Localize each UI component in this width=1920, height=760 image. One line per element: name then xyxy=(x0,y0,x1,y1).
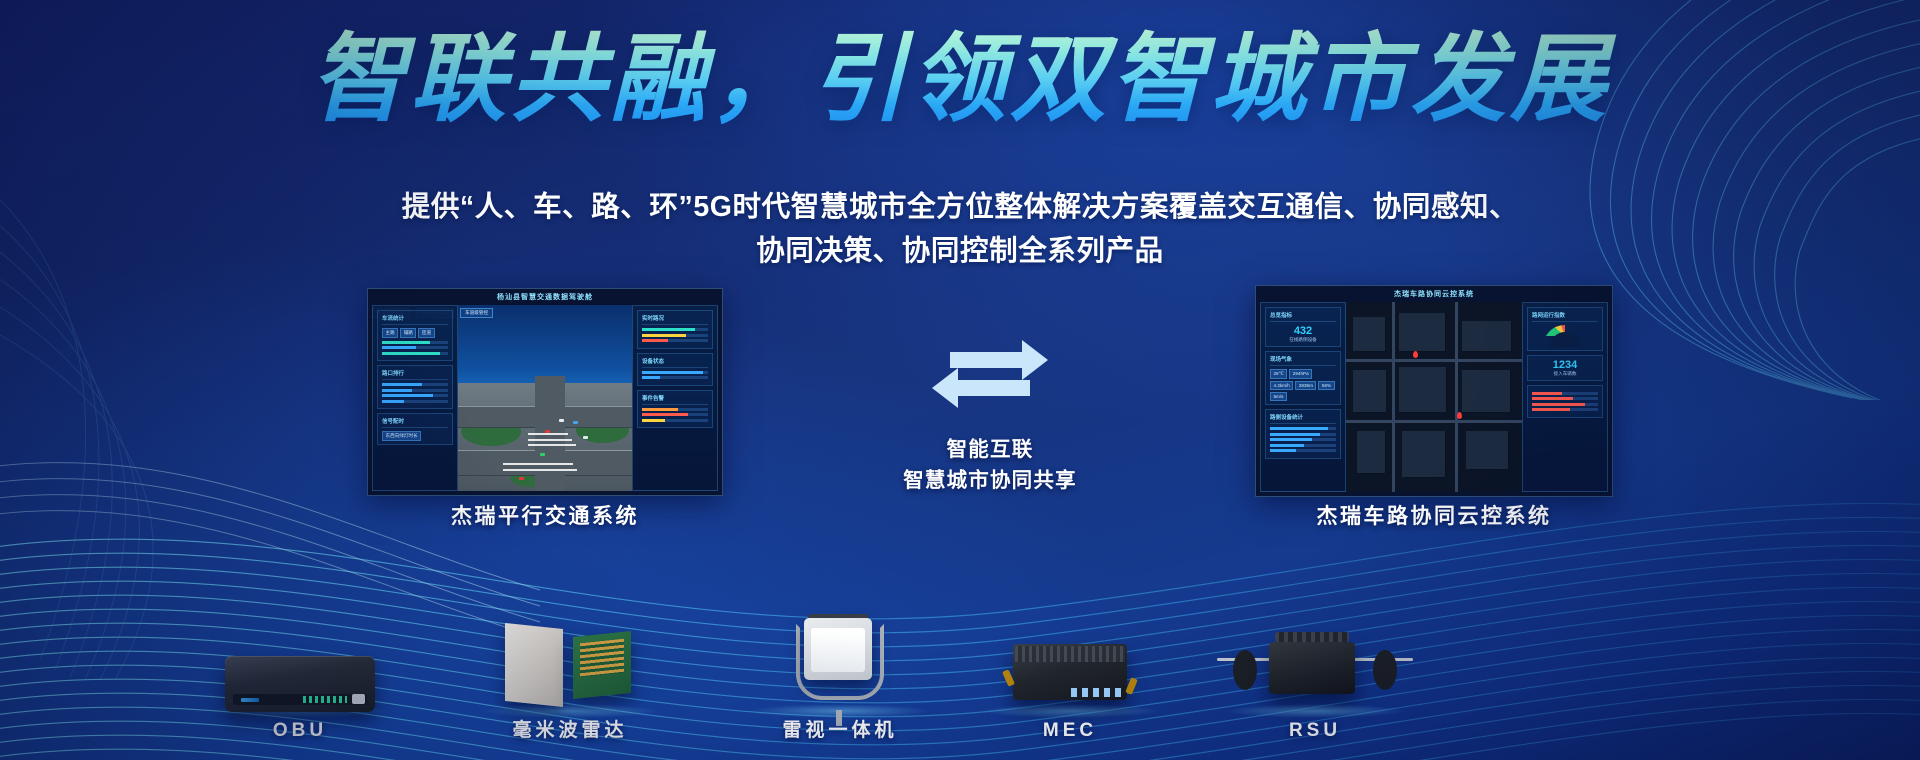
right-screen-title: 杰瑞车路协同云控系统 xyxy=(1256,289,1612,299)
card-overview-stats: 总览指标 432 在线路侧设备 xyxy=(1265,307,1341,347)
product-obu[interactable]: OBU xyxy=(175,582,425,742)
parallel-traffic-screenshot[interactable]: 杨汕县智慧交通数据驾驶舱 xyxy=(367,288,723,496)
card-weather: 现场气象 28℃ 294hPa 4.2km/h 2836m 56% 5m/s xyxy=(1265,351,1341,405)
center-line-2: 智慧城市协同共享 xyxy=(830,466,1150,497)
product-label: OBU xyxy=(273,720,327,742)
gauge-icon xyxy=(1543,325,1587,347)
mec-edge-server-icon xyxy=(1003,644,1137,708)
card-title: 路侧设备统计 xyxy=(1270,413,1336,424)
card-intersection-ranking: 路口排行 xyxy=(377,365,453,409)
product-row: OBU 毫米波雷达 雷视一体机 xyxy=(0,582,1920,742)
card-roadside-ranking: 路侧设备统计 xyxy=(1265,409,1341,459)
card-title: 路口排行 xyxy=(382,369,448,380)
cloud-control-screenshot[interactable]: 杰瑞车路协同云控系统 总览指 xyxy=(1255,285,1613,497)
legend-item: 辅路 xyxy=(400,328,416,338)
card-title: 事件告警 xyxy=(642,394,708,405)
card-spark-chart xyxy=(1527,385,1603,418)
intersection-3d-scene xyxy=(458,305,632,491)
card-title: 设备状态 xyxy=(642,357,708,368)
stat-label-0: 在线路侧设备 xyxy=(1270,337,1336,343)
subtitle-line-1: 提供“人、车、路、环”5G时代智慧城市全方位整体解决方案覆盖交互通信、协同感知、 xyxy=(260,185,1660,229)
subtitle-line-2: 协同决策、协同控制全系列产品 xyxy=(260,229,1660,273)
device-glow xyxy=(1225,704,1405,718)
card-event-alarm: 事件告警 xyxy=(637,390,713,429)
banner-stage: 智联共融，引领双智城市发展 提供“人、车、路、环”5G时代智慧城市全方位整体解决… xyxy=(0,0,1920,760)
millimeter-wave-radar-icon xyxy=(505,622,635,708)
radar-camera-unit-icon xyxy=(792,618,888,714)
right-panel-caption: 杰瑞车路协同云控系统 xyxy=(1255,500,1613,530)
product-label: 毫米波雷达 xyxy=(512,715,627,742)
stat-value-1: 1234 xyxy=(1532,359,1598,371)
card-title: 信号配时 xyxy=(382,417,448,428)
weather-chip: 28℃ xyxy=(1270,369,1287,379)
card-signal-timing: 信号配时 东西向绿灯时长 xyxy=(377,413,453,445)
weather-chip: 5m/s xyxy=(1270,392,1287,401)
card-traffic-flow: 车流统计 主路 辅路 匝道 xyxy=(377,310,453,361)
weather-chip: 56% xyxy=(1318,381,1334,390)
toolbar-button-2[interactable]: 车道级管控 xyxy=(460,308,493,318)
weather-chip: 4.2km/h xyxy=(1270,381,1293,390)
stat-value-0: 432 xyxy=(1270,325,1336,337)
parallel-traffic-dashboard: 杨汕县智慧交通数据驾驶舱 xyxy=(368,289,722,495)
left-panel-caption: 杰瑞平行交通系统 xyxy=(367,500,723,530)
city-map-scene xyxy=(1346,302,1522,492)
weather-chip: 2836m xyxy=(1295,381,1316,390)
product-mmwave-radar[interactable]: 毫米波雷达 xyxy=(445,582,695,742)
product-radar-camera[interactable]: 雷视一体机 xyxy=(715,582,965,742)
product-rsu[interactable]: RSU xyxy=(1190,582,1440,742)
card-title: 车流统计 xyxy=(382,314,448,325)
product-mec[interactable]: MEC xyxy=(945,582,1195,742)
card-title: 路网运行指数 xyxy=(1532,311,1598,322)
card-title: 现场气象 xyxy=(1270,355,1336,366)
left-screen-right-column: 实时路况 设备状态 事件告警 xyxy=(632,305,718,491)
card-title: 实时路况 xyxy=(642,314,708,325)
product-label: MEC xyxy=(1043,720,1097,742)
product-label: 雷视一体机 xyxy=(782,715,897,742)
card-device-status: 设备状态 xyxy=(637,353,713,386)
card-vehicle-count: 1234 接入车辆数 xyxy=(1527,355,1603,381)
page-title: 智联共融，引领双智城市发展 xyxy=(0,28,1920,132)
right-screen-left-column: 总览指标 432 在线路侧设备 现场气象 28℃ 294hPa 4.2km/h … xyxy=(1260,302,1346,492)
page-subtitle: 提供“人、车、路、环”5G时代智慧城市全方位整体解决方案覆盖交互通信、协同感知、… xyxy=(260,185,1660,273)
chip: 东西向绿灯时长 xyxy=(382,431,421,441)
right-screen-right-column: 路网运行指数 1234 接入车辆数 xyxy=(1522,302,1608,492)
card-network-index-gauge: 路网运行指数 xyxy=(1527,307,1603,351)
center-line-1: 智能互联 xyxy=(830,435,1150,466)
card-title: 总览指标 xyxy=(1270,311,1336,322)
rsu-roadside-unit-icon xyxy=(1217,638,1413,700)
product-label: RSU xyxy=(1289,720,1341,742)
stat-label-1: 接入车辆数 xyxy=(1532,371,1598,377)
two-way-exchange-arrows-icon xyxy=(930,330,1050,416)
center-caption: 智能互联 智慧城市协同共享 xyxy=(830,435,1150,497)
cloud-control-dashboard: 杰瑞车路协同云控系统 总览指 xyxy=(1256,286,1612,496)
legend-item: 匝道 xyxy=(418,328,434,338)
obu-device-icon xyxy=(225,656,375,712)
legend-item: 主路 xyxy=(382,328,398,338)
left-screen-left-column: 车流统计 主路 辅路 匝道 路口排行 xyxy=(372,305,458,491)
card-realtime-status: 实时路况 xyxy=(637,310,713,349)
weather-chip: 294hPa xyxy=(1289,369,1312,379)
